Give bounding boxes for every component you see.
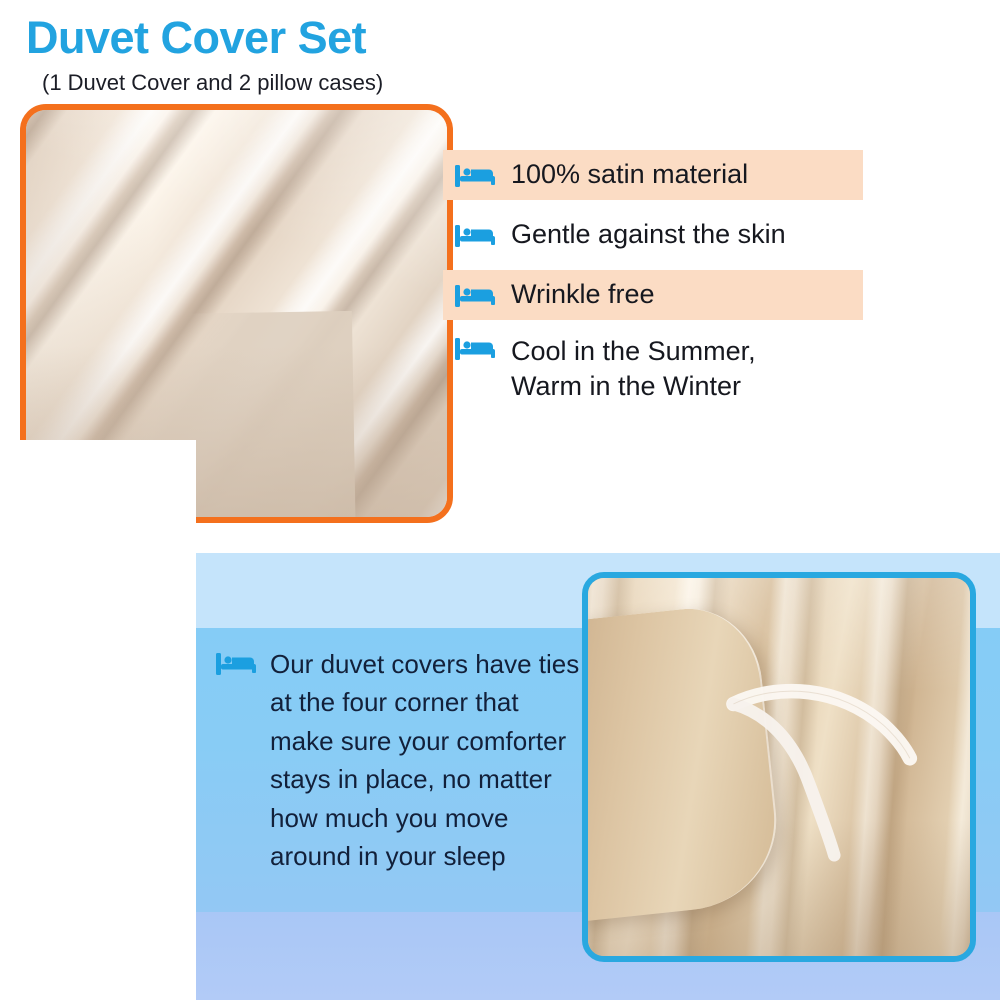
feature-label: Gentle against the skin: [511, 217, 786, 252]
bed-icon: [455, 163, 497, 189]
page-subtitle: (1 Duvet Cover and 2 pillow cases): [42, 70, 383, 96]
feature-row: 100% satin material: [443, 150, 863, 200]
feature-label: Wrinkle free: [511, 277, 655, 312]
background-fill: [0, 440, 196, 1000]
feature-label: Cool in the Summer, Warm in the Winter: [511, 334, 756, 404]
bed-icon: [455, 336, 497, 362]
feature-label: 100% satin material: [511, 157, 748, 192]
bed-icon: [455, 283, 497, 309]
tie-description-text: Our duvet covers have ties at the four c…: [270, 645, 586, 876]
page-title: Duvet Cover Set: [26, 14, 366, 63]
bed-icon: [216, 651, 258, 677]
feature-row: Gentle against the skin: [443, 200, 863, 270]
corner-tie-photo: [582, 572, 976, 962]
bed-icon: [455, 223, 497, 249]
product-infographic: Duvet Cover Set (1 Duvet Cover and 2 pil…: [0, 0, 1000, 1000]
feature-row: Wrinkle free: [443, 270, 863, 320]
feature-list: 100% satin material Gentle against the s…: [443, 150, 863, 416]
feature-row: Cool in the Summer, Warm in the Winter: [443, 320, 863, 416]
tie-description: Our duvet covers have ties at the four c…: [216, 645, 586, 876]
tie-feature-section: Our duvet covers have ties at the four c…: [196, 553, 1000, 1000]
